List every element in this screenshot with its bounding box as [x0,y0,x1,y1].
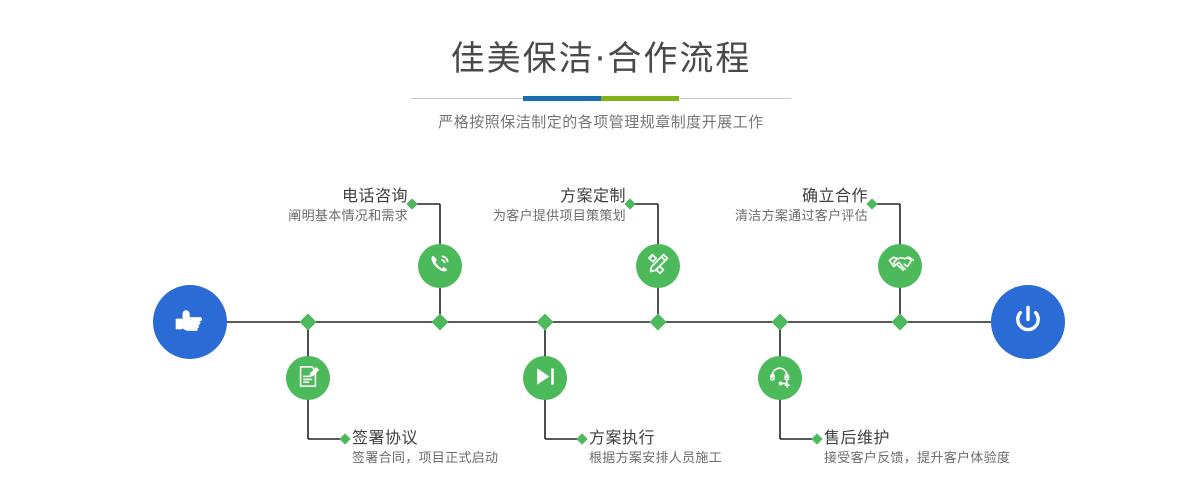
anchor-step-2 [339,433,350,444]
diamond-step-1 [432,314,449,331]
anchor-step-5 [866,198,877,209]
pointing-hand-icon [170,300,210,344]
flow-start-node[interactable] [153,285,227,359]
flow-end-node[interactable] [991,285,1065,359]
step-label-2: 签署协议 签署合同，项目正式启动 [352,427,498,469]
step-node-5-icon-circle[interactable] [878,244,922,288]
step-label-4-title: 方案执行 [589,427,722,449]
step-label-5-desc: 清洁方案通过客户评估 [735,207,868,227]
step-label-2-desc: 签署合同，项目正式启动 [352,449,498,469]
step-label-3: 方案定制 为客户提供项目策策划 [493,185,626,227]
step-label-3-title: 方案定制 [493,185,626,207]
anchor-step-3 [624,198,635,209]
step-node-4-icon-circle[interactable] [523,356,567,400]
step-label-1-desc: 阐明基本情况和需求 [288,207,408,227]
headset-support-icon [768,364,793,393]
play-execute-icon [533,364,558,393]
step-label-5-title: 确立合作 [735,185,868,207]
anchor-step-6 [811,433,822,444]
document-pen-icon [296,364,321,393]
step-node-3-icon-circle[interactable] [636,244,680,288]
step-label-4: 方案执行 根据方案安排人员施工 [589,427,722,469]
anchor-step-4 [576,433,587,444]
diamond-step-2 [300,314,317,331]
step-label-2-title: 签署协议 [352,427,498,449]
step-node-2-icon-circle[interactable] [286,356,330,400]
phone-call-icon [427,251,453,281]
step-label-6-desc: 接受客户反馈，提升客户体验度 [824,449,1010,469]
step-label-6: 售后维护 接受客户反馈，提升客户体验度 [824,427,1010,469]
step-label-1: 电话咨询 阐明基本情况和需求 [288,185,408,227]
step-label-3-desc: 为客户提供项目策策划 [493,207,626,227]
pencil-ruler-icon [645,251,671,281]
step-label-5: 确立合作 清洁方案通过客户评估 [735,185,868,227]
step-label-1-title: 电话咨询 [288,185,408,207]
diamond-step-3 [650,314,667,331]
step-node-6-icon-circle[interactable] [758,356,802,400]
power-icon [1008,300,1048,344]
diamond-step-6 [772,314,789,331]
process-flow-diagram: 电话咨询 阐明基本情况和需求 方案定制 为客户提供项目策策划 确立合作 清洁方案… [0,0,1202,502]
diamond-step-4 [537,314,554,331]
step-node-1-icon-circle[interactable] [418,244,462,288]
handshake-icon [887,251,914,282]
diamond-step-5 [892,314,909,331]
step-label-6-title: 售后维护 [824,427,1010,449]
anchor-step-1 [406,198,417,209]
step-label-4-desc: 根据方案安排人员施工 [589,449,722,469]
